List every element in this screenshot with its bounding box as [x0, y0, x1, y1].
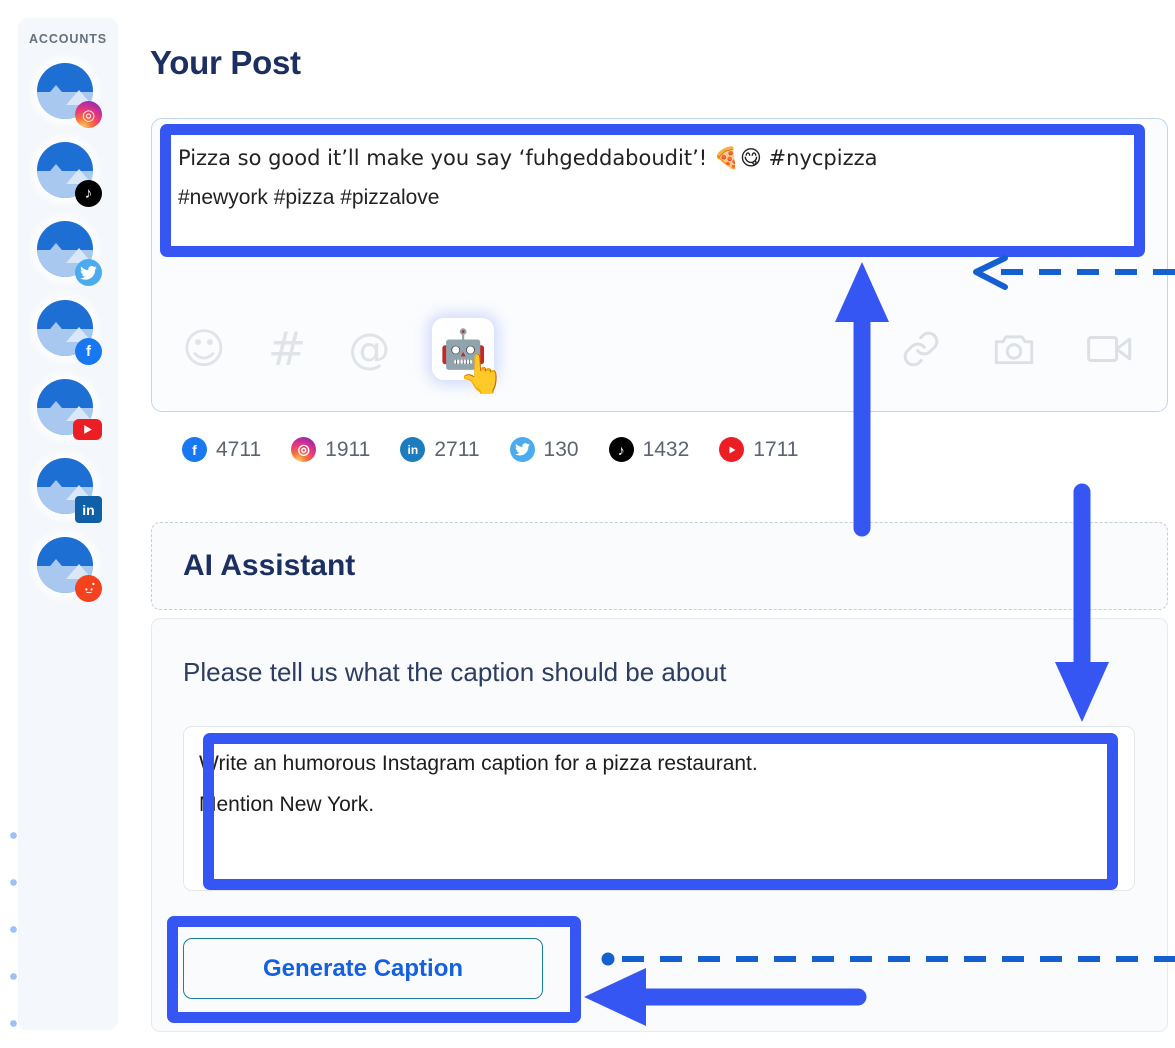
linkedin-icon: in — [400, 437, 425, 462]
counter-value: 4711 — [216, 438, 261, 462]
post-textarea[interactable]: Pizza so good it’ll make you say ‘fuhged… — [160, 125, 1150, 253]
post-editor-card: Pizza so good it’ll make you say ‘fuhged… — [151, 118, 1168, 412]
generate-caption-button[interactable]: Generate Caption — [183, 938, 543, 999]
prompt-label: Please tell us what the caption should b… — [183, 657, 727, 688]
counter-value: 1711 — [753, 438, 798, 462]
sidebar-account-youtube[interactable] — [37, 379, 99, 441]
mention-icon[interactable]: @ — [348, 328, 390, 370]
accounts-sidebar: ACCOUNTS ◎ ♪ f — [18, 18, 118, 1030]
accounts-sidebar-title: ACCOUNTS — [29, 32, 107, 46]
post-text-line-1: Pizza so good it’ll make you say ‘fuhged… — [178, 138, 1132, 178]
twitter-icon — [510, 437, 535, 462]
main-content: Your Post Pizza so good it’ll make you s… — [150, 0, 1175, 1048]
sidebar-account-linkedin[interactable]: in — [37, 458, 99, 520]
youtube-icon — [719, 437, 744, 462]
counter-value: 2711 — [434, 438, 479, 462]
linkedin-badge-icon: in — [75, 496, 102, 523]
counter-linkedin: in 2711 — [400, 437, 479, 462]
reddit-badge-icon — [75, 575, 102, 602]
instagram-badge-icon: ◎ — [75, 101, 102, 128]
sidebar-account-instagram[interactable]: ◎ — [37, 63, 99, 125]
camera-icon[interactable] — [993, 329, 1035, 369]
app-root: ACCOUNTS ◎ ♪ f — [0, 0, 1175, 1048]
instagram-icon: ◎ — [291, 437, 316, 462]
youtube-badge-icon — [73, 419, 102, 440]
page-title: Your Post — [150, 44, 301, 82]
counter-twitter: 130 — [510, 437, 579, 462]
tiktok-icon: ♪ — [609, 437, 634, 462]
counter-facebook: f 4711 — [182, 437, 261, 462]
emoji-icon[interactable]: ☺ — [182, 328, 226, 370]
ai-assistant-panel: Please tell us what the caption should b… — [151, 618, 1168, 1032]
twitter-badge-icon — [75, 259, 102, 286]
hashtag-icon[interactable]: # — [268, 326, 307, 372]
counter-youtube: 1711 — [719, 437, 798, 462]
prompt-textarea[interactable]: Write an humorous Instagram caption for … — [183, 726, 1135, 891]
sidebar-account-facebook[interactable]: f — [37, 300, 99, 362]
robot-icon: 🤖 — [440, 327, 487, 372]
character-counters: f 4711 ◎ 1911 in 2711 130 ♪ 1432 — [182, 437, 798, 462]
sidebar-account-reddit[interactable] — [37, 537, 99, 599]
counter-tiktok: ♪ 1432 — [609, 437, 690, 462]
ai-assistant-title: AI Assistant — [183, 549, 355, 583]
post-text-line-2: #newyork #pizza #pizzalove — [178, 178, 1132, 218]
counter-instagram: ◎ 1911 — [291, 437, 370, 462]
counter-value: 130 — [544, 438, 579, 462]
facebook-icon: f — [182, 437, 207, 462]
prompt-text: Write an humorous Instagram caption for … — [199, 743, 1099, 825]
prompt-text-line-1: Write an humorous Instagram caption for … — [199, 743, 1099, 784]
sidebar-account-twitter[interactable] — [37, 221, 99, 283]
editor-toolbar: ☺ # @ 🤖 👆 — [152, 309, 1169, 389]
video-icon[interactable] — [1087, 330, 1133, 368]
sidebar-account-tiktok[interactable]: ♪ — [37, 142, 99, 204]
counter-value: 1911 — [325, 438, 370, 462]
ai-assistant-button[interactable]: 🤖 👆 — [432, 318, 494, 380]
tiktok-badge-icon: ♪ — [75, 180, 102, 207]
counter-value: 1432 — [643, 438, 690, 462]
facebook-badge-icon: f — [75, 338, 102, 365]
ai-assistant-section-header: AI Assistant — [151, 522, 1168, 610]
prompt-text-line-2: Mention New York. — [199, 784, 1099, 825]
link-icon[interactable] — [901, 329, 941, 369]
